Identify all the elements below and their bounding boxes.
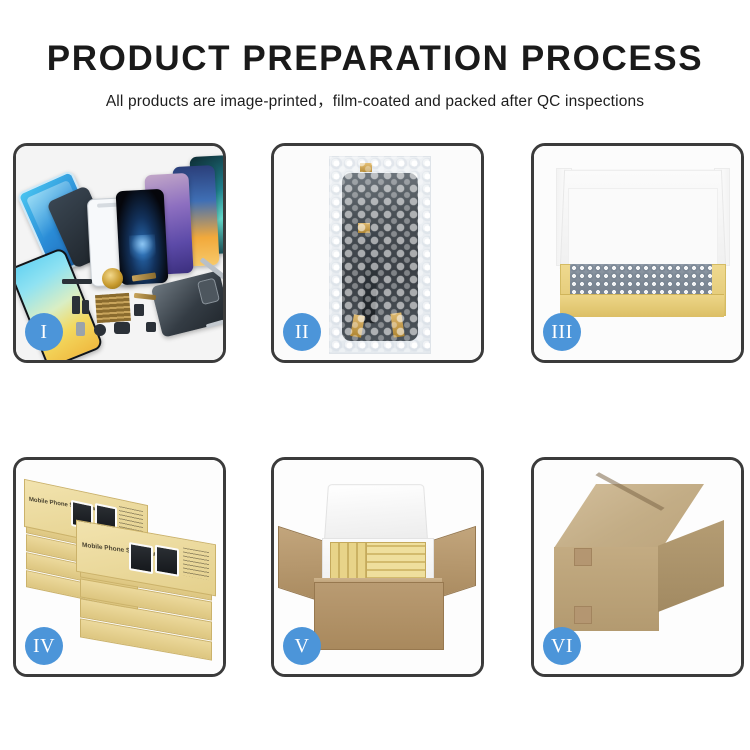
product-preparation-infographic: PRODUCT PREPARATION PROCESS All products… — [0, 0, 750, 750]
step-badge-6: VI — [543, 627, 581, 665]
step-badge-2: II — [283, 313, 321, 351]
process-step-card-5[interactable]: V — [271, 457, 484, 677]
process-step-grid: I II — [13, 143, 739, 677]
box-window-front-1 — [129, 542, 153, 574]
process-step-card-6[interactable]: VI — [531, 457, 744, 677]
process-step-card-4[interactable]: Mobile Phone Spare Parts Mobile Phone Sp… — [13, 457, 226, 677]
box-tray-front-face — [560, 294, 724, 317]
carton-tape-patch-top — [574, 548, 592, 566]
page-subtitle: All products are image-printed，film-coat… — [0, 89, 750, 111]
process-step-card-2[interactable]: II — [271, 143, 484, 363]
step-badge-1: I — [25, 313, 63, 351]
step-1-illustration: I — [16, 146, 223, 360]
box-window-front-2 — [155, 545, 179, 577]
part-screw-set-icon — [146, 322, 156, 332]
process-step-card-3[interactable]: III — [531, 143, 744, 363]
part-button-icon — [76, 322, 85, 336]
step-4-illustration: Mobile Phone Spare Parts Mobile Phone Sp… — [16, 460, 223, 674]
page-title: PRODUCT PREPARATION PROCESS — [0, 38, 750, 80]
process-step-card-1[interactable]: I — [13, 143, 226, 363]
step-badge-4: IV — [25, 627, 63, 665]
step-badge-3: III — [543, 313, 581, 351]
chip-grid-part-icon — [95, 293, 131, 323]
bubble-wrap-texture-overlay — [329, 156, 429, 352]
bubble-padding-icon — [570, 264, 712, 296]
part-connector-1 — [72, 296, 80, 314]
part-camera-icon — [94, 324, 106, 336]
part-connector-2 — [82, 300, 89, 314]
carton-left-face — [554, 547, 659, 631]
part-strip-1 — [62, 279, 92, 284]
step-badge-5: V — [283, 627, 321, 665]
foam-sheet-icon — [568, 188, 718, 270]
step-6-illustration: VI — [534, 460, 741, 674]
box-spec-lines-front — [183, 548, 209, 581]
foam-cooler-lid-icon — [324, 484, 428, 542]
black-lightning-phone-icon — [116, 189, 169, 285]
gold-coil-part-icon — [102, 268, 123, 289]
carton-tape-patch-bottom — [574, 606, 592, 624]
step-2-illustration: II — [274, 146, 481, 360]
page-header: PRODUCT PREPARATION PROCESS All products… — [0, 38, 750, 111]
part-connector-3 — [134, 304, 144, 316]
step-5-illustration: V — [274, 460, 481, 674]
carton-front-face — [314, 582, 444, 650]
part-speaker-icon — [114, 322, 130, 334]
step-3-illustration: III — [534, 146, 741, 360]
